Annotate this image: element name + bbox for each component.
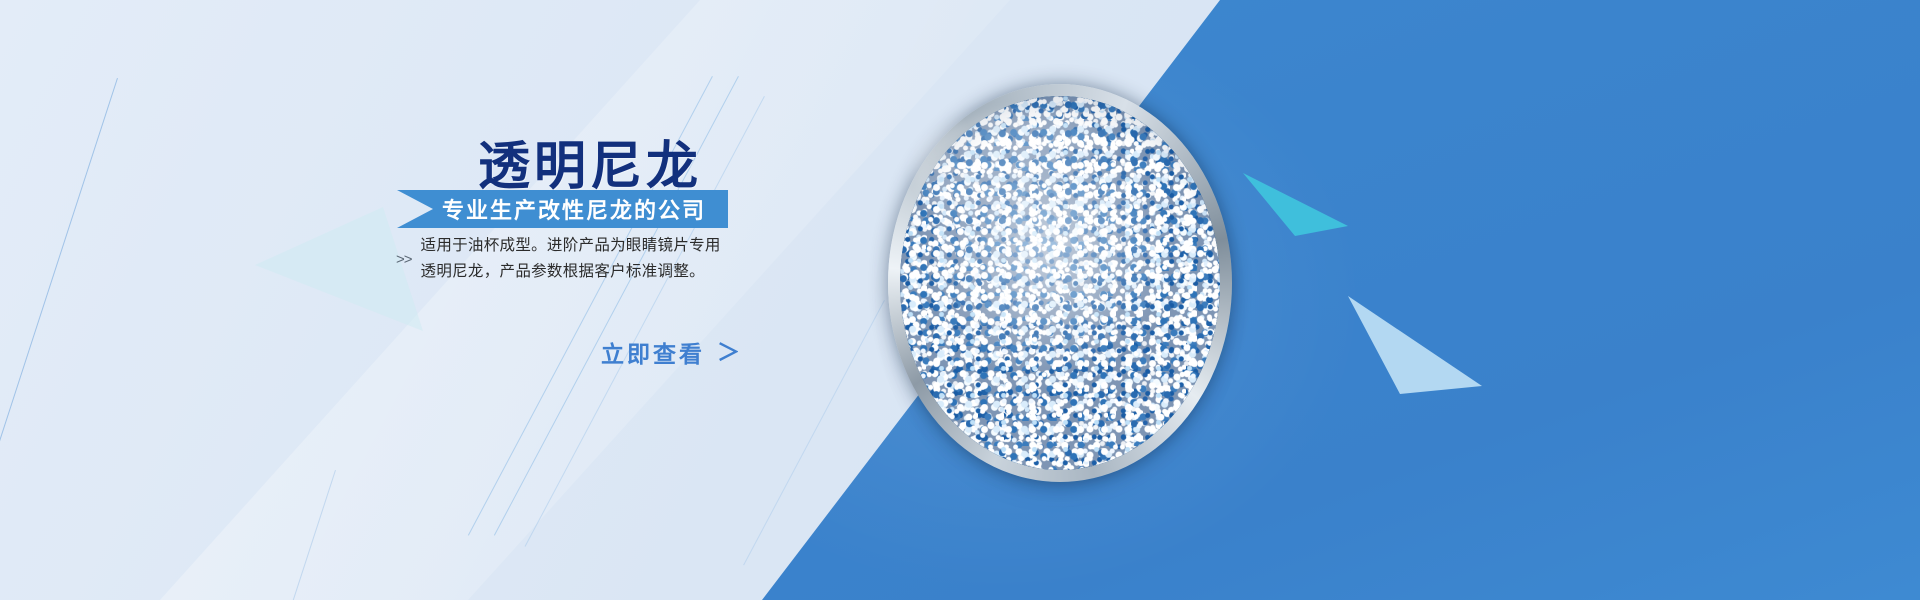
view-now-label: 立即查看 [601, 335, 705, 369]
banner-content: 透明尼龙 专业生产改性尼龙的公司 >> 适用于油杯成型。进阶产品为眼睛镜片专用 … [0, 0, 1920, 600]
view-now-button[interactable]: 立即查看 ＞ [601, 335, 743, 369]
page-title: 透明尼龙 [478, 124, 702, 199]
double-chevron-icon: >> [396, 252, 412, 267]
description-text: 适用于油杯成型。进阶产品为眼睛镜片专用 透明尼龙，产品参数根据客户标准调整。 [421, 233, 721, 285]
tagline-ribbon: 专业生产改性尼龙的公司 [397, 190, 728, 228]
description-block: >> 适用于油杯成型。进阶产品为眼睛镜片专用 透明尼龙，产品参数根据客户标准调整… [396, 233, 721, 285]
description-line-2: 透明尼龙，产品参数根据客户标准调整。 [421, 259, 721, 285]
product-hero-banner: 透明尼龙 专业生产改性尼龙的公司 >> 适用于油杯成型。进阶产品为眼睛镜片专用 … [0, 0, 1920, 600]
chevron-right-icon: ＞ [717, 341, 743, 364]
description-line-1: 适用于油杯成型。进阶产品为眼睛镜片专用 [421, 233, 721, 259]
tagline-ribbon-label: 专业生产改性尼龙的公司 [442, 193, 706, 225]
